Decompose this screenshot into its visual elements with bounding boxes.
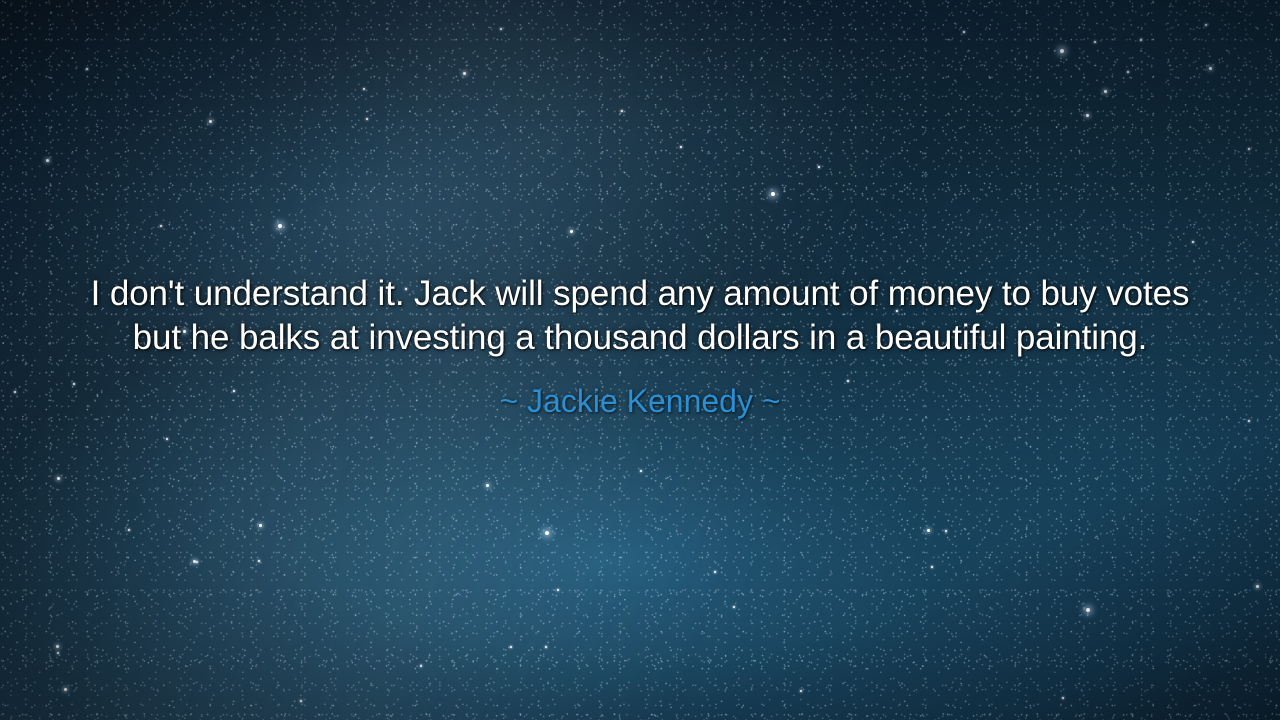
- quote-text: I don't understand it. Jack will spend a…: [78, 272, 1202, 360]
- quote-overlay: I don't understand it. Jack will spend a…: [0, 272, 1280, 420]
- quote-image-canvas: I don't understand it. Jack will spend a…: [0, 0, 1280, 720]
- quote-attribution: ~ Jackie Kennedy ~: [78, 382, 1202, 420]
